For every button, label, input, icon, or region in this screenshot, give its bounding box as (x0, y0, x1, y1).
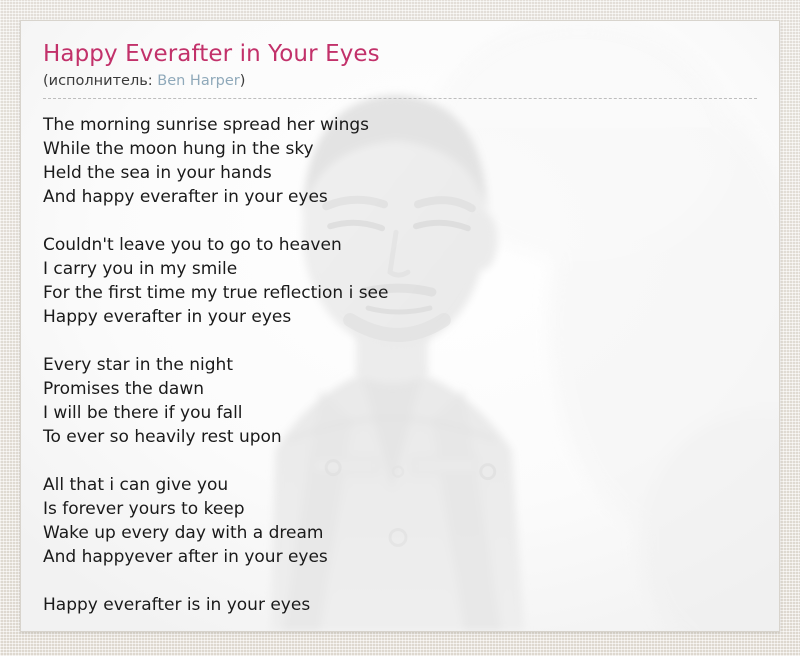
lyric-line: For the first time my true reflection i … (43, 281, 757, 305)
artist-link[interactable]: Ben Harper (157, 73, 240, 89)
lyric-line: Every star in the night (43, 353, 757, 377)
lyric-line: All that i can give you (43, 473, 757, 497)
lyrics-text: The morning sunrise spread her wingsWhil… (43, 113, 757, 617)
lyric-stanza: The morning sunrise spread her wingsWhil… (43, 113, 757, 209)
lyric-stanza: Every star in the nightPromises the dawn… (43, 353, 757, 449)
lyric-line: Held the sea in your hands (43, 161, 757, 185)
lyric-stanza: All that i can give youIs forever yours … (43, 473, 757, 569)
lyric-line: And happyever after in your eyes (43, 545, 757, 569)
lyric-line: Is forever yours to keep (43, 497, 757, 521)
lyric-line: I carry you in my smile (43, 257, 757, 281)
lyric-line: Happy everafter is in your eyes (43, 593, 757, 617)
lyric-stanza: Couldn't leave you to go to heavenI carr… (43, 233, 757, 329)
lyric-line: While the moon hung in the sky (43, 137, 757, 161)
page-title: Happy Everafter in Your Eyes (43, 39, 757, 69)
lyrics-card: Happy Everafter in Your Eyes (исполнител… (20, 20, 780, 632)
lyric-line: Wake up every day with a dream (43, 521, 757, 545)
artist-byline: (исполнитель: Ben Harper) (43, 71, 757, 99)
lyric-line: Happy everafter in your eyes (43, 305, 757, 329)
artist-suffix-label: ) (240, 73, 246, 89)
lyric-line: And happy everafter in your eyes (43, 185, 757, 209)
card-content: Happy Everafter in Your Eyes (исполнител… (21, 21, 779, 617)
lyric-line: Promises the dawn (43, 377, 757, 401)
lyric-line: To ever so heavily rest upon (43, 425, 757, 449)
lyric-stanza: Happy everafter is in your eyes (43, 593, 757, 617)
lyric-line: Couldn't leave you to go to heaven (43, 233, 757, 257)
lyric-line: I will be there if you fall (43, 401, 757, 425)
lyric-line: The morning sunrise spread her wings (43, 113, 757, 137)
artist-prefix-label: (исполнитель: (43, 73, 157, 89)
